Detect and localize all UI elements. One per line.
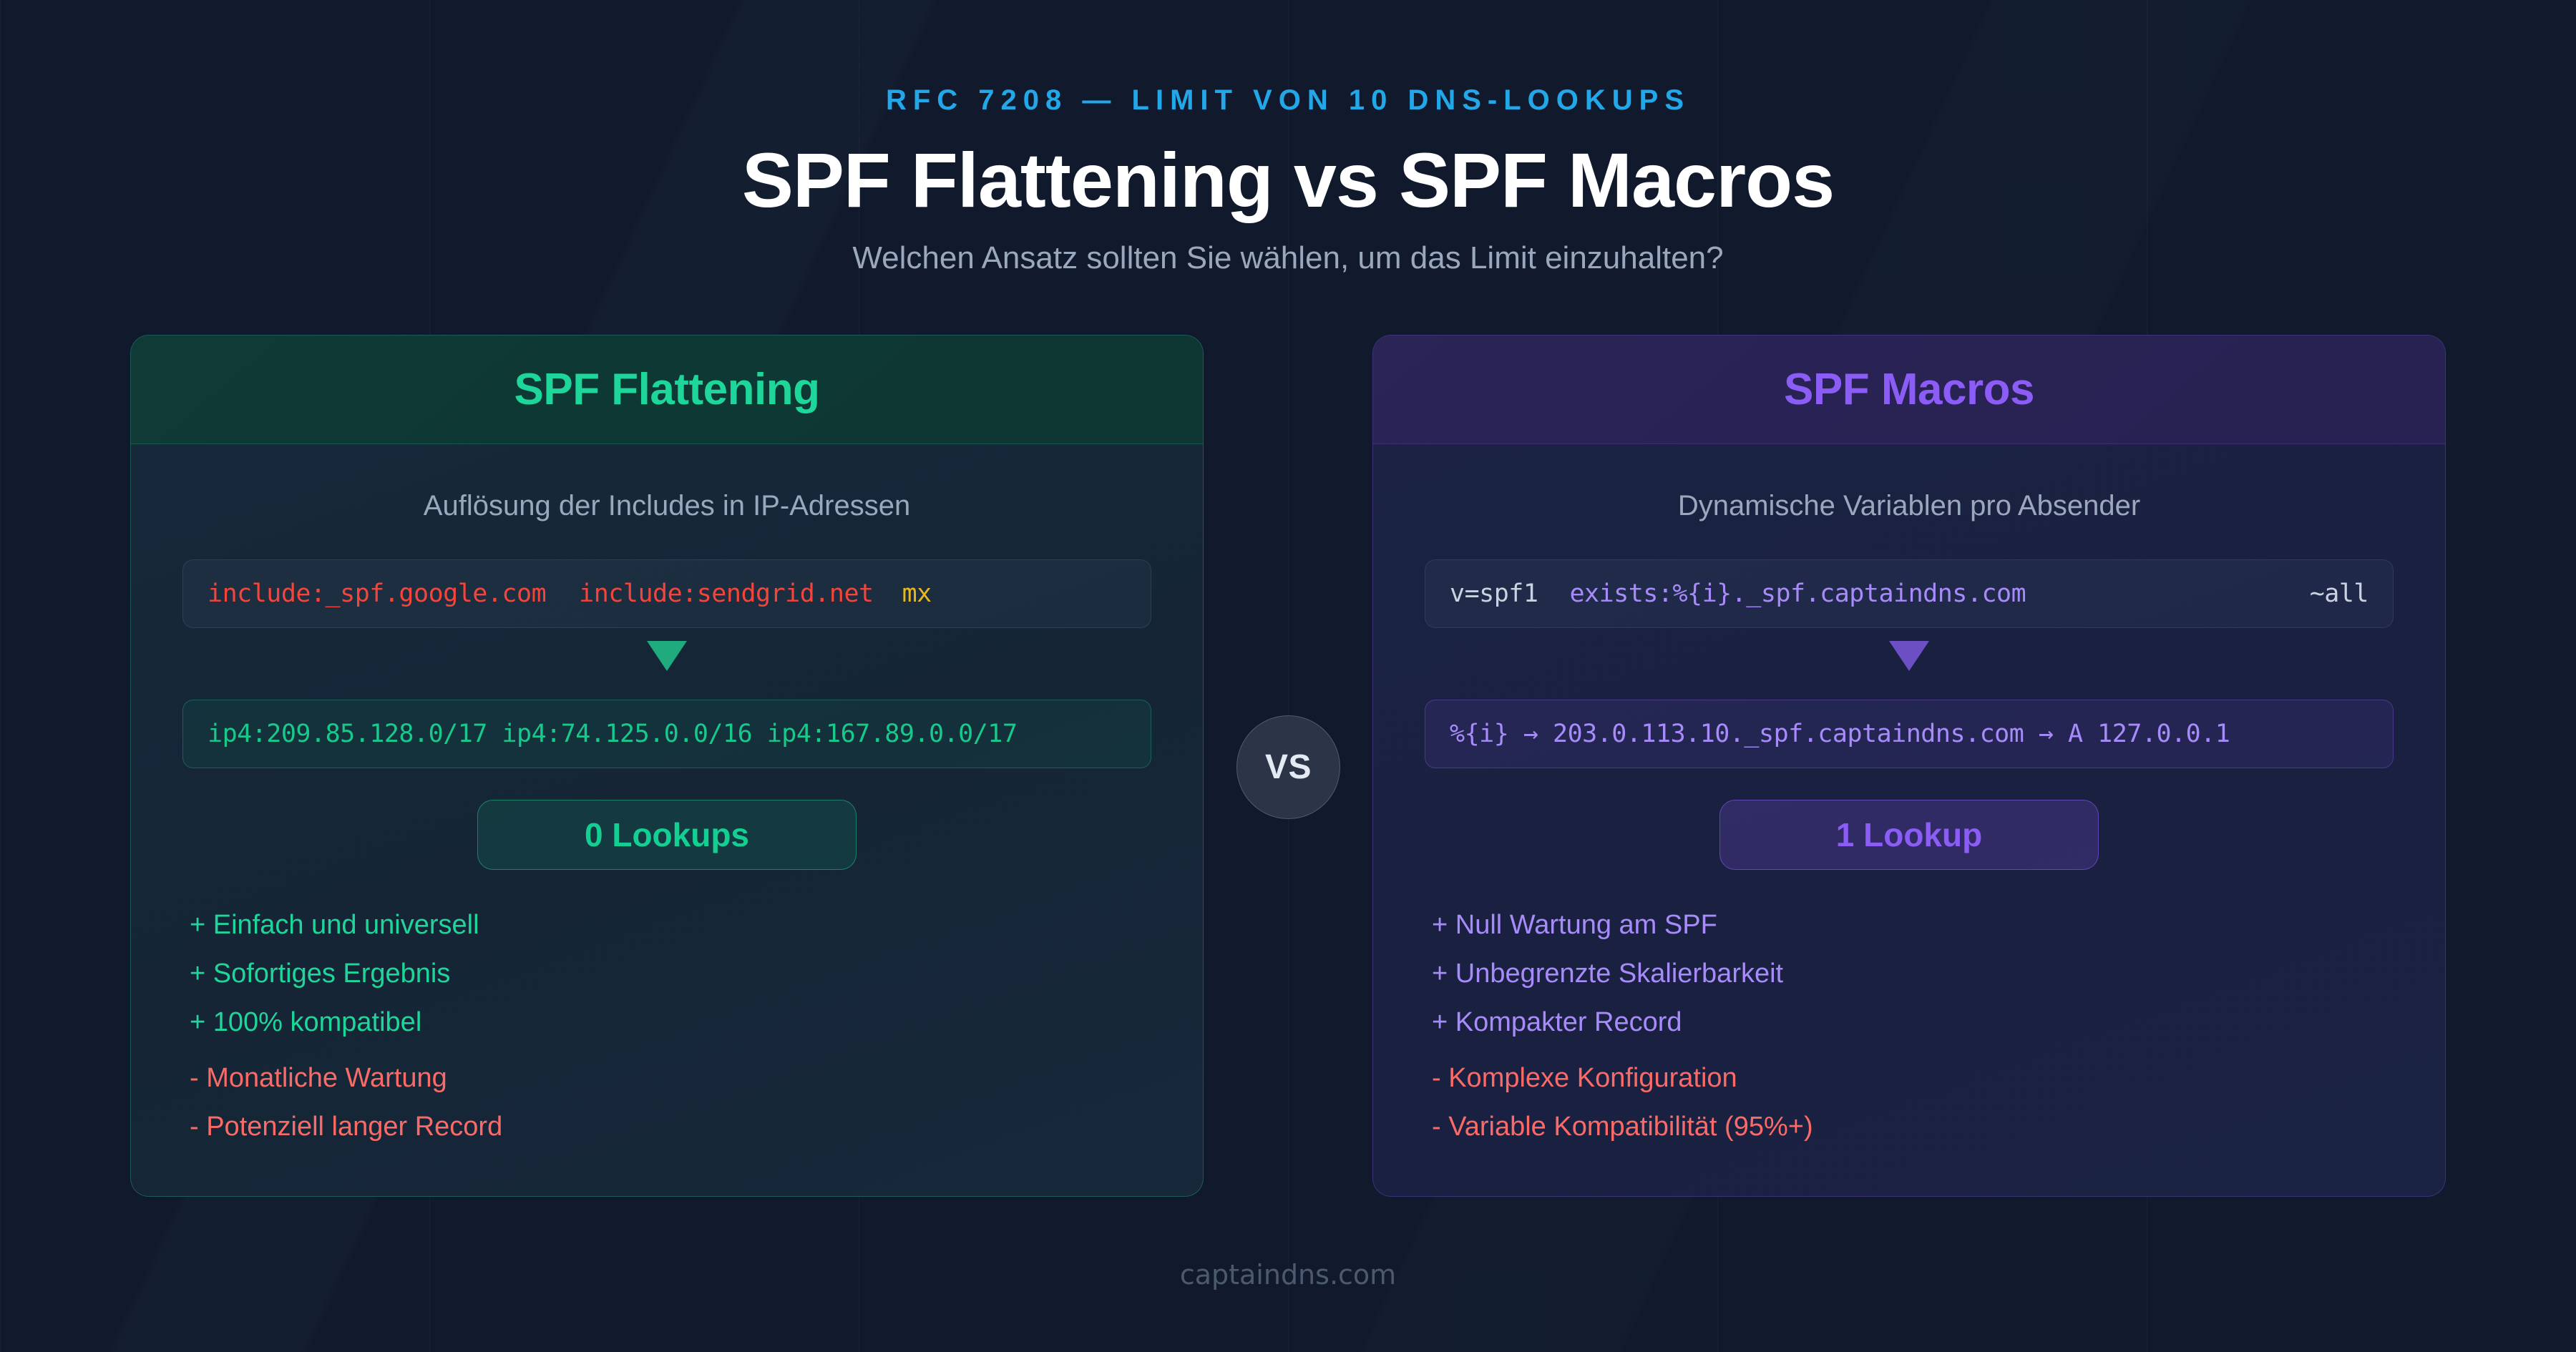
code-block-result-macros: %{i} → 203.0.113.10._spf.captaindns.com … [1425, 700, 2394, 768]
card-body-macros: Dynamische Variablen pro Absender v=spf1… [1373, 490, 2445, 1140]
arrow-wrap-flattening [182, 641, 1151, 671]
card-header-flattening: SPF Flattening [131, 335, 1203, 444]
page-title: SPF Flattening vs SPF Macros [0, 135, 2576, 225]
card-title-macros: SPF Macros [1784, 364, 2034, 415]
pro-item: + Einfach und universell [190, 911, 1151, 939]
pros-cons-macros: + Null Wartung am SPF + Unbegrenzte Skal… [1425, 911, 2394, 1140]
lookup-badge-flattening: 0 Lookups [477, 800, 857, 870]
code-token-mx: mx [902, 579, 932, 608]
con-item: - Variable Kompatibilität (95%+) [1432, 1113, 2394, 1140]
con-item: - Potenziell langer Record [190, 1113, 1151, 1140]
card-description-flattening: Auflösung der Includes in IP-Adressen [182, 490, 1151, 522]
code-token-softfail: ~all [2310, 579, 2368, 608]
arrow-down-icon [647, 641, 687, 671]
pro-item: + Unbegrenzte Skalierbarkeit [1432, 960, 2394, 987]
lookup-badge-macros: 1 Lookup [1719, 800, 2099, 870]
code-token-include-google: include:_spf.google.com [208, 579, 546, 608]
vs-badge-label: VS [1265, 748, 1312, 787]
card-body-flattening: Auflösung der Includes in IP-Adressen in… [131, 490, 1203, 1140]
card-header-macros: SPF Macros [1373, 335, 2445, 444]
footer-brand: captaindns.com [0, 1259, 2576, 1290]
code-block-input-macros: v=spf1 exists:%{i}._spf.captaindns.com ~… [1425, 559, 2394, 628]
con-item: - Komplexe Konfiguration [1432, 1064, 2394, 1092]
card-description-macros: Dynamische Variablen pro Absender [1425, 490, 2394, 522]
con-item: - Monatliche Wartung [190, 1064, 1151, 1092]
code-block-result-flattening: ip4:209.85.128.0/17 ip4:74.125.0.0/16 ip… [182, 700, 1151, 768]
badge-wrap-macros: 1 Lookup [1425, 800, 2394, 870]
pro-item: + Null Wartung am SPF [1432, 911, 2394, 939]
arrow-down-icon [1889, 641, 1929, 671]
card-spf-flattening: SPF Flattening Auflösung der Includes in… [130, 335, 1204, 1197]
code-token-version: v=spf1 [1450, 579, 1538, 608]
code-token-include-sendgrid: include:sendgrid.net [579, 579, 873, 608]
pro-item: + 100% kompatibel [190, 1009, 1151, 1036]
code-result-ip-ranges: ip4:209.85.128.0/17 ip4:74.125.0.0/16 ip… [208, 720, 1017, 748]
pro-item: + Kompakter Record [1432, 1009, 2394, 1036]
card-title-flattening: SPF Flattening [514, 364, 820, 415]
code-result-macro-expansion: %{i} → 203.0.113.10._spf.captaindns.com … [1450, 720, 2230, 748]
page-subtitle: Welchen Ansatz sollten Sie wählen, um da… [0, 240, 2576, 276]
badge-wrap-flattening: 0 Lookups [182, 800, 1151, 870]
card-spf-macros: SPF Macros Dynamische Variablen pro Abse… [1372, 335, 2446, 1197]
code-block-input-flattening: include:_spf.google.com include:sendgrid… [182, 559, 1151, 628]
arrow-wrap-macros [1425, 641, 2394, 671]
pro-item: + Sofortiges Ergebnis [190, 960, 1151, 987]
page-header: RFC 7208 — LIMIT VON 10 DNS-LOOKUPS SPF … [0, 0, 2576, 276]
eyebrow-label: RFC 7208 — LIMIT VON 10 DNS-LOOKUPS [0, 84, 2576, 117]
code-token-exists: exists:%{i}._spf.captaindns.com [1569, 579, 2026, 608]
vs-badge: VS [1236, 715, 1340, 819]
pros-cons-flattening: + Einfach und universell + Sofortiges Er… [182, 911, 1151, 1140]
